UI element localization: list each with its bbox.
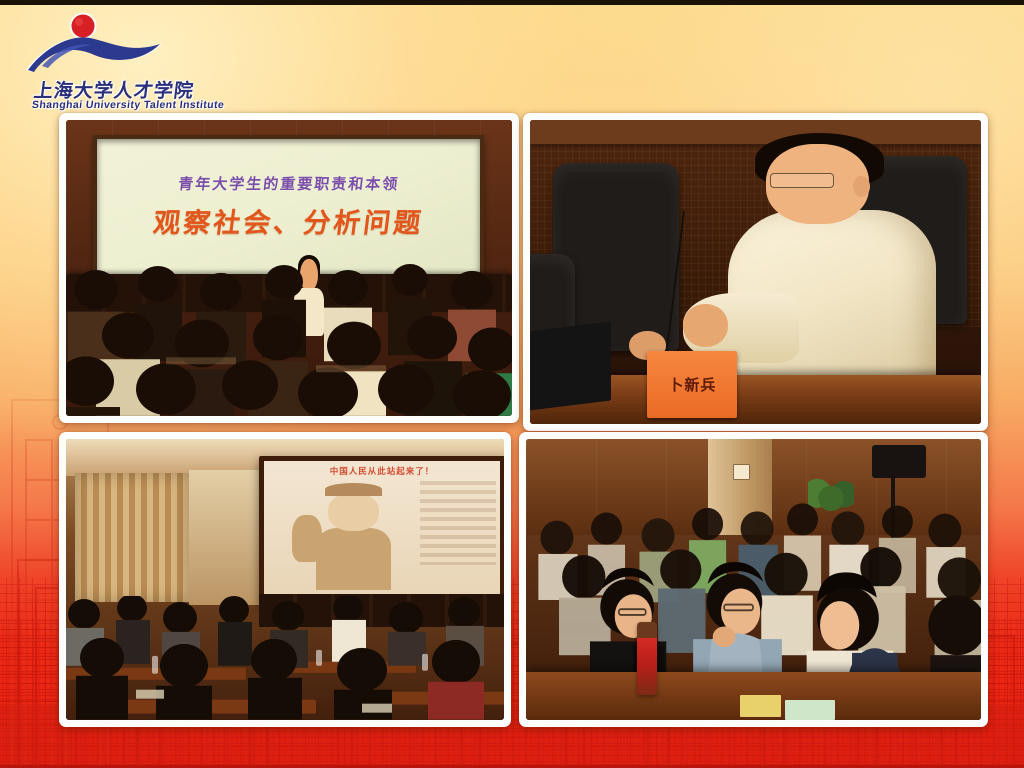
speaker-person <box>728 138 935 406</box>
window-curtain <box>75 473 189 602</box>
photo-room-big-screen[interactable]: 中国人民从此站起来了！ <box>59 432 511 727</box>
seminar-audience-area <box>66 596 504 720</box>
lecture-hall-scene: 青年大学生的重要职责和本领 观察社会、分析问题 <box>66 120 512 416</box>
laptop-on-desk <box>530 321 611 411</box>
screen-subtitle-text: 青年大学生的重要职责和本领 <box>96 173 482 194</box>
nameplate-text: 卜新兵 <box>668 374 716 395</box>
notebook-green <box>785 700 835 720</box>
institute-logo: 上海大学人才学院 Shanghai University Talent Inst… <box>12 6 227 114</box>
notebook-yellow <box>740 695 781 717</box>
photo-audience-closeup[interactable] <box>519 432 988 727</box>
photo-lecture-hall-screen[interactable]: 青年大学生的重要职责和本领 观察社会、分析问题 <box>59 113 519 423</box>
photo-3-content: 中国人民从此站起来了！ <box>66 439 504 720</box>
screen-title-text: 观察社会、分析问题 <box>94 201 482 240</box>
screen-historical-figure <box>316 483 392 590</box>
logo-sun-icon <box>72 15 95 38</box>
large-projection-screen: 中国人民从此站起来了！ <box>259 456 504 607</box>
photo-2-content: 卜新兵 <box>530 120 981 424</box>
logo-text-en: Shanghai University Talent Institute <box>31 99 232 111</box>
photo-1-content: 青年大学生的重要职责和本领 观察社会、分析问题 <box>66 120 512 416</box>
hall-audience <box>66 262 512 416</box>
logo-mark <box>12 6 227 76</box>
seminar-room-scene: 中国人民从此站起来了！ <box>66 439 504 720</box>
video-camera <box>872 445 927 479</box>
screen-right-panel <box>420 481 496 565</box>
photo-speaker-at-table[interactable]: 卜新兵 <box>523 113 988 431</box>
nameplate: 卜新兵 <box>647 351 737 418</box>
presentation-slide: 上海大学人才学院 Shanghai University Talent Inst… <box>0 0 1024 768</box>
photo-4-content <box>526 439 981 720</box>
screen-caption-text: 中国人民从此站起来了！ <box>264 465 501 477</box>
soda-bottle <box>637 622 657 695</box>
audience-room-scene <box>526 439 981 720</box>
conference-room-scene: 卜新兵 <box>530 120 981 424</box>
eyeglasses <box>770 173 834 188</box>
slide-top-border <box>0 0 1024 5</box>
